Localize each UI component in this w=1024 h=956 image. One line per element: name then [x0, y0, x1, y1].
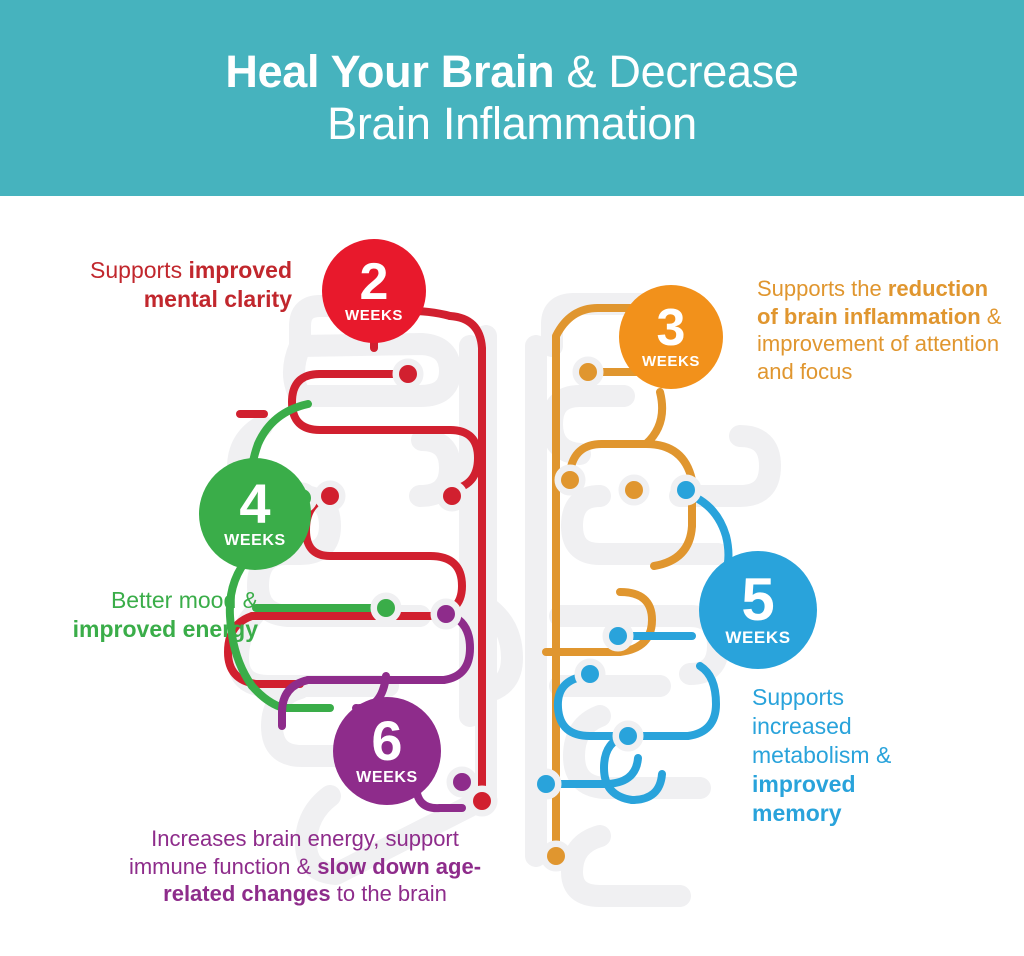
callout-week-2: Supports improved mental clarity — [20, 256, 292, 314]
callout-week-4: Better mood & improved energy — [40, 586, 258, 644]
week-badge-5-label: WEEKS — [725, 628, 790, 648]
week-badge-4-number: 4 — [239, 480, 270, 528]
header-banner: Heal Your Brain & Decrease Brain Inflamm… — [0, 0, 1024, 196]
week-badge-2-number: 2 — [360, 260, 389, 305]
week-badge-4[interactable]: 4 WEEKS — [199, 458, 311, 570]
week-badge-5[interactable]: 5 WEEKS — [699, 551, 817, 669]
callout-segment: to the brain — [331, 881, 447, 906]
callout-segment: improved memory — [752, 771, 856, 826]
callout-week-3: Supports the reduction of brain inflamma… — [757, 275, 1013, 386]
week-badge-6-number: 6 — [371, 717, 402, 765]
callout-segment: Better mood & — [111, 587, 258, 613]
page-title-bold: Heal Your Brain — [225, 46, 554, 97]
callout-week-6: Increases brain energy, support immune f… — [120, 825, 490, 908]
week-badge-3[interactable]: 3 WEEKS — [619, 285, 723, 389]
week-badge-2[interactable]: 2 WEEKS — [322, 239, 426, 343]
page-title-line-2: Brain Inflammation — [327, 101, 697, 147]
callout-segment: Supports the — [757, 276, 888, 301]
infographic-page: Heal Your Brain & Decrease Brain Inflamm… — [0, 0, 1024, 956]
week-badge-3-label: WEEKS — [642, 353, 700, 370]
week-badge-2-label: WEEKS — [345, 307, 403, 324]
week-badge-3-number: 3 — [657, 306, 686, 351]
week-badge-4-label: WEEKS — [224, 532, 286, 550]
callout-segment: Supports — [90, 257, 188, 283]
week-badge-5-number: 5 — [741, 574, 774, 626]
callout-week-5: Supports increased metabolism & improved… — [752, 683, 942, 828]
callout-segment: Supports increased metabolism & — [752, 684, 891, 768]
week-badge-6-label: WEEKS — [356, 769, 418, 787]
week-badge-6[interactable]: 6 WEEKS — [333, 697, 441, 805]
page-title-line-1: Heal Your Brain & Decrease — [225, 49, 798, 95]
callout-segment: improved energy — [73, 616, 258, 642]
page-title-light: & Decrease — [554, 46, 798, 97]
